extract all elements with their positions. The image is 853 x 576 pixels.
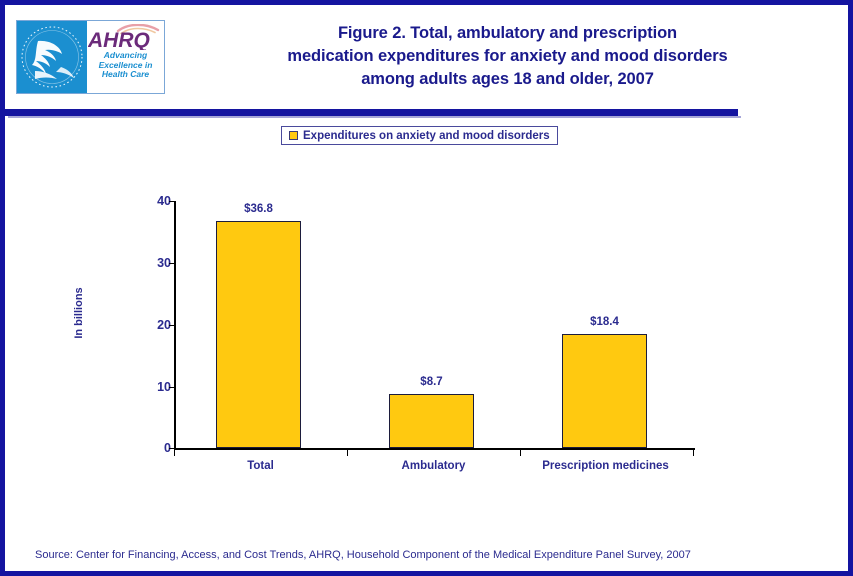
source-note: Source: Center for Financing, Access, an… (35, 549, 691, 561)
x-category-label-prescription-medicines: Prescription medicines (533, 460, 678, 472)
x-tick-mark-2 (347, 450, 348, 456)
chart-plot-area: In billions 40 30 20 10 0 $36.8 Total $8… (5, 5, 848, 571)
bar-ambulatory[interactable] (389, 394, 474, 448)
x-tick-mark-3 (520, 450, 521, 456)
bar-value-total: $36.8 (216, 203, 301, 215)
figure-frame: AHRQ Advancing Excellence in Health Care… (0, 0, 853, 576)
y-axis-title-text: In billions (73, 270, 85, 356)
y-axis-line (174, 201, 176, 450)
y-tick-label-40: 40 (141, 195, 171, 208)
x-category-label-total: Total (218, 460, 303, 472)
y-tick-label-20: 20 (141, 319, 171, 332)
y-tick-label-0: 0 (141, 442, 171, 455)
y-axis-title: In billions (72, 263, 86, 363)
bar-value-prescription-medicines: $18.4 (562, 316, 647, 328)
x-tick-mark-1 (174, 450, 175, 456)
x-tick-mark-4 (693, 450, 694, 456)
x-category-label-ambulatory: Ambulatory (391, 460, 476, 472)
bar-value-ambulatory: $8.7 (389, 376, 474, 388)
x-axis-line (174, 448, 695, 450)
bar-prescription-medicines[interactable] (562, 334, 647, 448)
y-tick-label-30: 30 (141, 257, 171, 270)
bar-total[interactable] (216, 221, 301, 448)
y-tick-label-10: 10 (141, 381, 171, 394)
